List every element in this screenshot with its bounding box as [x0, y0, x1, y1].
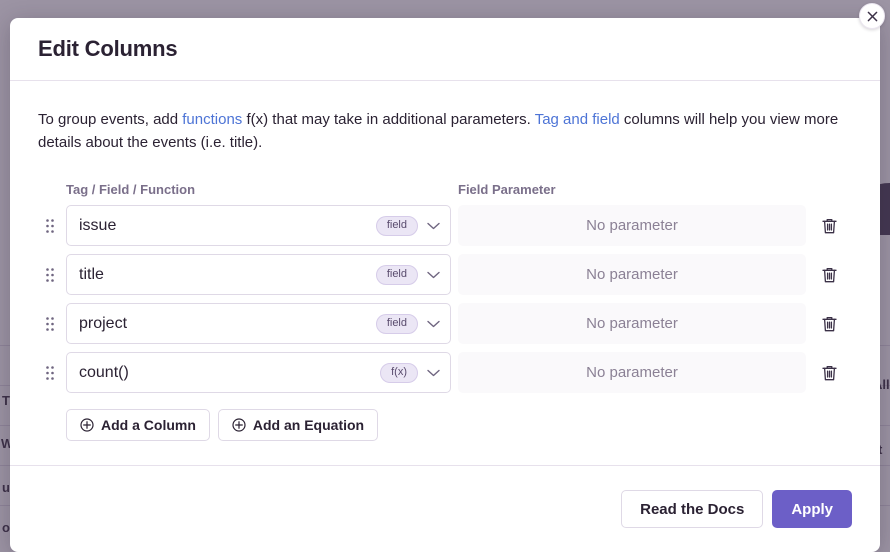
field-parameter-value: No parameter	[586, 364, 678, 381]
add-a-column-label: Add a Column	[101, 417, 196, 433]
column-select-value: count()	[79, 364, 380, 382]
add-buttons-group: Add a Column Add an Equation	[38, 409, 852, 441]
column-kind-badge: field	[376, 265, 418, 285]
table-row: title field No parameter	[38, 253, 852, 296]
close-icon	[867, 11, 878, 22]
field-parameter-box: No parameter	[458, 352, 806, 393]
field-parameter-value: No parameter	[586, 266, 678, 283]
column-select[interactable]: count() f(x)	[66, 352, 451, 393]
delete-column-button[interactable]	[806, 266, 852, 284]
close-modal-button[interactable]	[859, 3, 885, 29]
delete-column-button[interactable]	[806, 315, 852, 333]
description-part-1: To group events, add	[38, 111, 182, 128]
column-kind-badge: f(x)	[380, 363, 418, 383]
circle-plus-icon	[80, 418, 94, 432]
column-select[interactable]: project field	[66, 303, 451, 344]
modal-body: To group events, add functions f(x) that…	[10, 81, 880, 465]
edit-columns-modal: Edit Columns To group events, add functi…	[10, 18, 880, 552]
column-kind-badge: field	[376, 314, 418, 334]
description-part-2: f(x) that may take in additional paramet…	[242, 111, 534, 128]
field-parameter-box: No parameter	[458, 254, 806, 295]
delete-column-button[interactable]	[806, 364, 852, 382]
add-an-equation-button[interactable]: Add an Equation	[218, 409, 378, 441]
chevron-down-icon	[427, 320, 440, 328]
column-select[interactable]: title field	[66, 254, 451, 295]
table-row: project field No parameter	[38, 302, 852, 345]
modal-description: To group events, add functions f(x) that…	[38, 108, 848, 154]
circle-plus-icon	[232, 418, 246, 432]
modal-header: Edit Columns	[10, 18, 880, 81]
column-select-value: project	[79, 315, 376, 333]
chevron-down-icon	[427, 369, 440, 377]
trash-icon	[821, 217, 838, 235]
column-select[interactable]: issue field	[66, 205, 451, 246]
column-kind-badge: field	[376, 216, 418, 236]
functions-link[interactable]: functions	[182, 111, 242, 128]
drag-handle-icon[interactable]	[38, 218, 66, 234]
column-header-field-parameter: Field Parameter	[451, 182, 806, 197]
tag-and-field-link[interactable]: Tag and field	[535, 111, 620, 128]
drag-handle-icon[interactable]	[38, 365, 66, 381]
field-parameter-box: No parameter	[458, 303, 806, 344]
chevron-down-icon	[427, 222, 440, 230]
drag-handle-icon[interactable]	[38, 267, 66, 283]
trash-icon	[821, 315, 838, 333]
trash-icon	[821, 364, 838, 382]
apply-button[interactable]: Apply	[772, 490, 852, 528]
read-the-docs-button[interactable]: Read the Docs	[621, 490, 763, 528]
field-parameter-box: No parameter	[458, 205, 806, 246]
chevron-down-icon	[427, 271, 440, 279]
page-title: Edit Columns	[38, 36, 177, 62]
trash-icon	[821, 266, 838, 284]
column-header-tag-field-function: Tag / Field / Function	[66, 182, 451, 197]
modal-footer: Read the Docs Apply	[10, 465, 880, 552]
columns-table: Tag / Field / Function Field Parameter	[38, 182, 852, 394]
column-select-value: title	[79, 266, 376, 284]
column-select-value: issue	[79, 217, 376, 235]
table-row: count() f(x) No parameter	[38, 351, 852, 394]
table-row: issue field No parameter	[38, 204, 852, 247]
field-parameter-value: No parameter	[586, 217, 678, 234]
table-header-row: Tag / Field / Function Field Parameter	[38, 182, 852, 204]
drag-handle-icon[interactable]	[38, 316, 66, 332]
add-a-column-button[interactable]: Add a Column	[66, 409, 210, 441]
add-an-equation-label: Add an Equation	[253, 417, 364, 433]
field-parameter-value: No parameter	[586, 315, 678, 332]
delete-column-button[interactable]	[806, 217, 852, 235]
